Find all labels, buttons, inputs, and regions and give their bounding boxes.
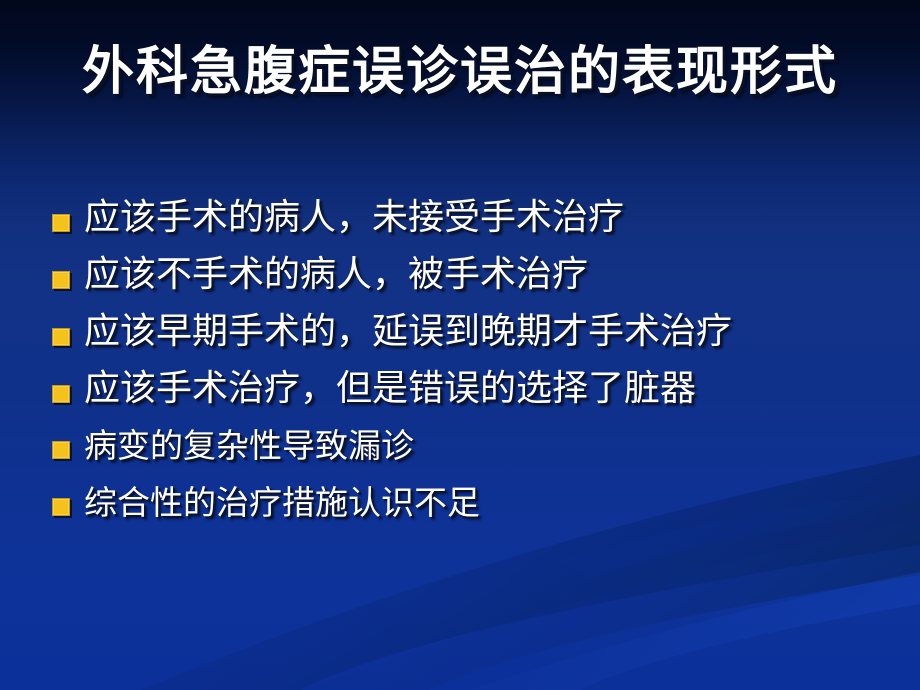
list-item: 应该不手术的病人，被手术治疗 — [52, 253, 908, 310]
list-item-label: 综合性的治疗措施认识不足 — [84, 481, 908, 525]
square-bullet-icon — [52, 214, 70, 232]
list-item: 应该手术治疗，但是错误的选择了脏器 — [52, 367, 908, 424]
bullet-list: 应该手术的病人，未接受手术治疗 应该不手术的病人，被手术治疗 应该早期手术的，延… — [52, 196, 908, 538]
list-item: 应该手术的病人，未接受手术治疗 — [52, 196, 908, 253]
square-bullet-icon — [52, 328, 70, 346]
list-item: 综合性的治疗措施认识不足 — [52, 481, 908, 538]
slide-canvas: 外科急腹症误诊误治的表现形式 应该手术的病人，未接受手术治疗 应该不手术的病人，… — [0, 0, 920, 690]
list-item-label: 应该手术的病人，未接受手术治疗 — [84, 196, 908, 240]
square-bullet-icon — [52, 385, 70, 403]
list-item-label: 应该早期手术的，延误到晚期才手术治疗 — [84, 310, 908, 354]
slide-title: 外科急腹症误诊误治的表现形式 — [0, 44, 920, 100]
list-item: 病变的复杂性导致漏诊 — [52, 424, 908, 481]
square-bullet-icon — [52, 498, 70, 516]
list-item-label: 应该不手术的病人，被手术治疗 — [84, 253, 908, 297]
list-item: 应该早期手术的，延误到晚期才手术治疗 — [52, 310, 908, 367]
list-item-label: 病变的复杂性导致漏诊 — [84, 424, 908, 468]
list-item-label: 应该手术治疗，但是错误的选择了脏器 — [84, 367, 908, 411]
square-bullet-icon — [52, 441, 70, 459]
square-bullet-icon — [52, 271, 70, 289]
